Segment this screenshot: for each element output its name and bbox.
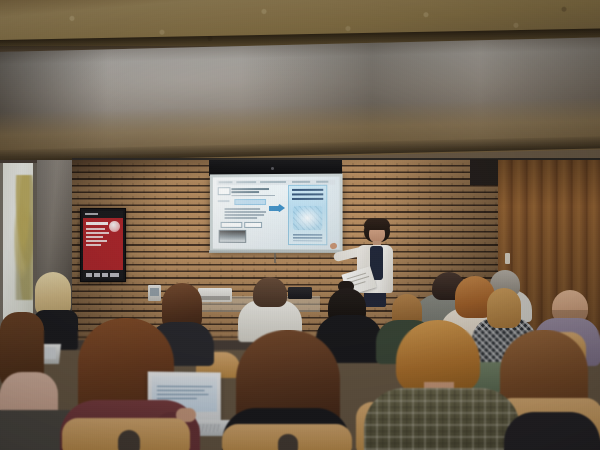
lecture-hall-photo: MacBook	[0, 0, 600, 450]
signage-screen	[83, 211, 123, 279]
laptop-screen-text-line	[157, 386, 212, 388]
screen-casing-marker	[271, 167, 274, 170]
signage-footer-bar	[83, 270, 123, 279]
screen-glare	[213, 177, 340, 250]
chair-notch-center	[278, 434, 298, 450]
signage-footer-block	[102, 273, 108, 277]
signage-text-line	[86, 244, 101, 246]
foreground-woman-long-hair-body	[504, 412, 600, 450]
signage-footer-block	[110, 273, 119, 277]
audience-woman-patterned-head	[487, 288, 521, 328]
signage-text-line	[86, 236, 103, 238]
presentation-slide	[213, 177, 340, 250]
presenter-hair-front	[364, 218, 390, 230]
signage-logo-icon	[109, 221, 120, 232]
laptop-screen-text-line	[157, 394, 208, 395]
projector-unit	[288, 287, 312, 299]
signage-text-line	[86, 228, 105, 230]
signage-footer-block	[94, 273, 100, 277]
screen-support-pole	[274, 253, 276, 263]
printer-tray	[200, 296, 230, 300]
window-mullion-left	[0, 163, 3, 333]
laptop-screen-text-line	[157, 390, 205, 392]
audience-man-white-shirt-head	[253, 277, 287, 307]
presenter-lower-body	[364, 291, 386, 307]
signage-header-text	[85, 213, 98, 215]
projection-screen	[210, 174, 343, 253]
wall-switch[interactable]	[505, 253, 510, 264]
signage-text-line	[86, 232, 109, 234]
signage-footer-block	[86, 273, 92, 277]
digital-signage-display[interactable]	[80, 208, 126, 282]
foreground-man-plaid-shirt	[364, 388, 520, 450]
signage-text-line	[86, 240, 107, 242]
signage-headline	[86, 222, 108, 225]
signage-header-bar	[83, 211, 123, 218]
screen-kiosk[interactable]	[148, 285, 161, 301]
chair-notch-left	[118, 430, 140, 450]
kiosk-screen	[150, 288, 159, 296]
